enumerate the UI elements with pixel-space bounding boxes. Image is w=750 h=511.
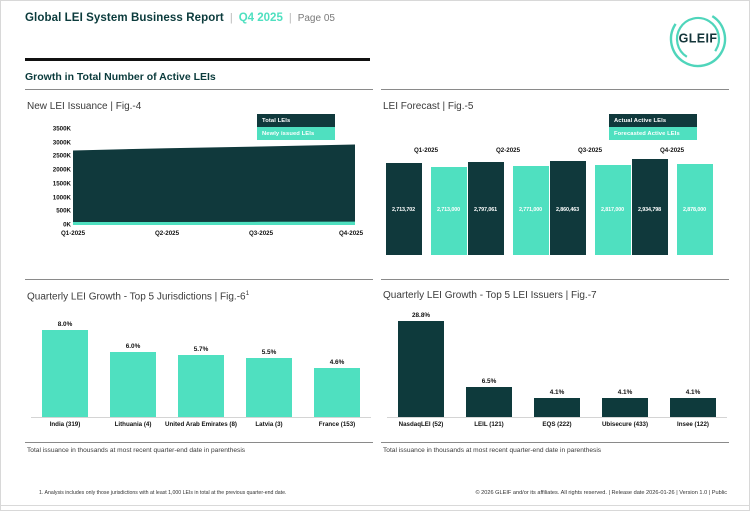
fig6-cat-latvia: Latvia (3) bbox=[232, 421, 306, 429]
fig5-value-forecast-q2: 2,771,000 bbox=[513, 207, 549, 213]
fig7-col-eqs[interactable]: 4.1% EQS (222) bbox=[523, 309, 591, 417]
fig6-note: Total issuance in thousands at most rece… bbox=[27, 447, 245, 454]
fig4-xtick-q4: Q4-2025 bbox=[339, 230, 363, 237]
page-header: Global LEI System Business Report | Q4 2… bbox=[1, 1, 750, 61]
fig6-value-latvia: 5.5% bbox=[262, 349, 277, 356]
fig5-group-label-q4: Q4-2025 bbox=[631, 147, 713, 154]
fig5-legend-item-forecast: Forecasted Active LEIs bbox=[609, 127, 697, 140]
fig6-cat-india: India (319) bbox=[28, 421, 102, 429]
report-page: Global LEI System Business Report | Q4 2… bbox=[0, 0, 750, 511]
gleif-logo-icon: GLEIF bbox=[667, 8, 729, 70]
fig7-chart: 28.8% NasdaqLEI (52) 6.5% LEIL (121) 4.1… bbox=[387, 309, 727, 417]
fig5-group-label-q1: Q1-2025 bbox=[385, 147, 467, 154]
fig7-value-insee: 4.1% bbox=[686, 389, 701, 396]
fig5-group-q4: Q4-2025 2,934,798 2,878,000 bbox=[631, 147, 713, 255]
header-separator-2: | bbox=[289, 12, 292, 24]
fig4-ytick-2500k: 2500K bbox=[53, 153, 71, 160]
fig7-value-leil: 6.5% bbox=[482, 378, 497, 385]
fig6-cat-france: France (153) bbox=[300, 421, 374, 429]
fig6-title: Quarterly LEI Growth - Top 5 Jurisdictio… bbox=[27, 290, 249, 302]
fig6-top-rule bbox=[25, 279, 373, 280]
gleif-logo-text: GLEIF bbox=[679, 32, 718, 46]
fig5-legend: Actual Active LEIs Forecasted Active LEI… bbox=[609, 114, 697, 140]
fig7-col-leil[interactable]: 6.5% LEIL (121) bbox=[455, 309, 523, 417]
fig7-baseline bbox=[387, 417, 727, 418]
fig5-title: LEI Forecast | Fig.-5 bbox=[383, 101, 473, 112]
fig5-value-actual-q4: 2,934,798 bbox=[632, 207, 668, 213]
fig6-cat-lithuania: Lithuania (4) bbox=[96, 421, 170, 429]
fig7-title: Quarterly LEI Growth - Top 5 LEI Issuers… bbox=[383, 290, 597, 301]
fig6-bar-lithuania[interactable] bbox=[110, 352, 156, 417]
fig5-bar-forecast-q4[interactable]: 2,878,000 bbox=[677, 160, 713, 255]
fig4-ytick-1500k: 1500K bbox=[53, 180, 71, 187]
fig6-value-uae: 5.7% bbox=[194, 346, 209, 353]
fig5-value-actual-q2: 2,797,061 bbox=[468, 207, 504, 213]
fig7-value-ubisecure: 4.1% bbox=[618, 389, 633, 396]
fig6-col-uae[interactable]: 5.7% United Arab Emirates (8) bbox=[167, 309, 235, 417]
fig4-ytick-2000k: 2000K bbox=[53, 167, 71, 174]
fig4-xtick-q2: Q2-2025 bbox=[155, 230, 179, 237]
fig5-value-forecast-q3: 2,817,000 bbox=[595, 207, 631, 213]
fig5-group-label-q2: Q2-2025 bbox=[467, 147, 549, 154]
fig5-value-forecast-q4: 2,878,000 bbox=[677, 207, 713, 213]
fig6-bar-latvia[interactable] bbox=[246, 358, 292, 417]
header-separator-1: | bbox=[230, 12, 233, 24]
page-number: Page 05 bbox=[298, 13, 335, 24]
fig4-area-svg bbox=[73, 129, 355, 225]
fig7-cat-insee: Insee (122) bbox=[656, 421, 730, 429]
footer-divider bbox=[1, 505, 750, 506]
fig7-bar-nasdaqlei[interactable] bbox=[398, 321, 444, 417]
report-title: Global LEI System Business Report bbox=[25, 12, 224, 24]
fig7-col-ubisecure[interactable]: 4.1% Ubisecure (433) bbox=[591, 309, 659, 417]
fig4-ytick-3000k: 3000K bbox=[53, 139, 71, 146]
fig7-cat-eqs: EQS (222) bbox=[520, 421, 594, 429]
fig4-legend-item-total: Total LEIs bbox=[257, 114, 335, 127]
footer-copyright: © 2026 GLEIF and/or its affiliates. All … bbox=[475, 490, 727, 496]
fig5-bar-actual-q2[interactable]: 2,797,061 bbox=[468, 160, 504, 255]
fig6-bar-france[interactable] bbox=[314, 368, 360, 417]
fig7-bar-leil[interactable] bbox=[466, 387, 512, 417]
fig6-col-latvia[interactable]: 5.5% Latvia (3) bbox=[235, 309, 303, 417]
fig4-title: New LEI Issuance | Fig.-4 bbox=[27, 101, 141, 112]
panel-fig6: Quarterly LEI Growth - Top 5 Jurisdictio… bbox=[25, 279, 373, 459]
fig7-cat-nasdaqlei: NasdaqLEI (52) bbox=[384, 421, 458, 429]
fig6-title-footnote-marker: 1 bbox=[246, 290, 250, 297]
fig5-bar-forecast-q3[interactable]: 2,817,000 bbox=[595, 160, 631, 255]
header-divider bbox=[25, 58, 370, 61]
fig5-value-forecast-q1: 2,713,000 bbox=[431, 207, 467, 213]
fig4-series-newly-issued bbox=[73, 222, 355, 225]
fig4-ytick-3500k: 3500K bbox=[53, 126, 71, 133]
fig4-series-total-lei bbox=[73, 145, 355, 223]
fig7-col-insee[interactable]: 4.1% Insee (122) bbox=[659, 309, 727, 417]
fig6-title-text: Quarterly LEI Growth - Top 5 Jurisdictio… bbox=[27, 291, 246, 302]
fig7-value-nasdaqlei: 28.8% bbox=[412, 312, 430, 319]
fig5-bar-forecast-q1[interactable]: 2,713,000 bbox=[431, 160, 467, 255]
panel-fig7: Quarterly LEI Growth - Top 5 LEI Issuers… bbox=[381, 279, 729, 459]
header-title-row: Global LEI System Business Report | Q4 2… bbox=[25, 12, 335, 24]
fig6-col-india[interactable]: 8.0% India (319) bbox=[31, 309, 99, 417]
fig5-value-actual-q1: 2,713,702 bbox=[386, 207, 422, 213]
fig6-value-lithuania: 6.0% bbox=[126, 343, 141, 350]
fig4-ytick-500k: 500K bbox=[56, 208, 71, 215]
fig5-group-label-q3: Q3-2025 bbox=[549, 147, 631, 154]
fig4-plot-area bbox=[73, 129, 355, 225]
fig6-col-lithuania[interactable]: 6.0% Lithuania (4) bbox=[99, 309, 167, 417]
report-quarter: Q4 2025 bbox=[239, 12, 283, 24]
footnote-text: 1. Analysis includes only those jurisdic… bbox=[39, 490, 286, 496]
fig7-top-rule bbox=[381, 279, 729, 280]
fig4-y-axis: 3500K 3000K 2500K 2000K 1500K 1000K 500K… bbox=[25, 129, 71, 229]
gleif-logo: GLEIF bbox=[667, 8, 729, 70]
fig7-value-eqs: 4.1% bbox=[550, 389, 565, 396]
fig5-value-actual-q3: 2,860,463 bbox=[550, 207, 586, 213]
fig7-note-rule bbox=[381, 442, 729, 443]
fig7-note: Total issuance in thousands at most rece… bbox=[383, 447, 601, 454]
fig5-legend-item-actual: Actual Active LEIs bbox=[609, 114, 697, 127]
fig7-bar-insee[interactable] bbox=[670, 398, 716, 417]
fig5-bar-actual-q1[interactable]: 2,713,702 bbox=[386, 160, 422, 255]
fig4-xtick-q1: Q1-2025 bbox=[61, 230, 85, 237]
fig6-value-india: 8.0% bbox=[58, 321, 73, 328]
fig7-bar-eqs[interactable] bbox=[534, 398, 580, 417]
fig6-col-france[interactable]: 4.6% France (153) bbox=[303, 309, 371, 417]
fig6-baseline bbox=[31, 417, 371, 418]
fig5-chart: Q1-2025 2,713,702 2,713,000 Q2-2025 bbox=[385, 147, 715, 255]
fig4-xtick-q3: Q3-2025 bbox=[249, 230, 273, 237]
fig6-cat-uae: United Arab Emirates (8) bbox=[164, 421, 238, 429]
fig5-bar-actual-q4[interactable]: 2,934,798 bbox=[632, 160, 668, 255]
fig6-bar-india[interactable] bbox=[42, 330, 88, 417]
fig7-bar-ubisecure[interactable] bbox=[602, 398, 648, 417]
fig4-ytick-1000k: 1000K bbox=[53, 194, 71, 201]
fig5-bar-actual-q3[interactable]: 2,860,463 bbox=[550, 160, 586, 255]
panel-fig4: New LEI Issuance | Fig.-4 Total LEIs New… bbox=[25, 89, 373, 264]
fig5-top-rule bbox=[381, 89, 729, 90]
fig7-cat-leil: LEIL (121) bbox=[452, 421, 526, 429]
fig6-note-rule bbox=[25, 442, 373, 443]
panel-fig5: LEI Forecast | Fig.-5 Actual Active LEIs… bbox=[381, 89, 729, 264]
section-title: Growth in Total Number of Active LEIs bbox=[25, 71, 216, 83]
fig6-chart: 8.0% India (319) 6.0% Lithuania (4) 5.7%… bbox=[31, 309, 371, 417]
fig5-group-q3: Q3-2025 2,860,463 2,817,000 bbox=[549, 147, 631, 255]
fig5-group-q1: Q1-2025 2,713,702 2,713,000 bbox=[385, 147, 467, 255]
fig7-cat-ubisecure: Ubisecure (433) bbox=[588, 421, 662, 429]
fig6-bar-uae[interactable] bbox=[178, 355, 224, 417]
fig5-group-q2: Q2-2025 2,797,061 2,771,000 bbox=[467, 147, 549, 255]
fig4-ytick-0k: 0K bbox=[63, 222, 71, 229]
fig4-top-rule bbox=[25, 89, 373, 90]
fig6-value-france: 4.6% bbox=[330, 359, 345, 366]
fig7-col-nasdaqlei[interactable]: 28.8% NasdaqLEI (52) bbox=[387, 309, 455, 417]
fig4-chart: 3500K 3000K 2500K 2000K 1500K 1000K 500K… bbox=[25, 129, 373, 247]
fig5-bar-forecast-q2[interactable]: 2,771,000 bbox=[513, 160, 549, 255]
